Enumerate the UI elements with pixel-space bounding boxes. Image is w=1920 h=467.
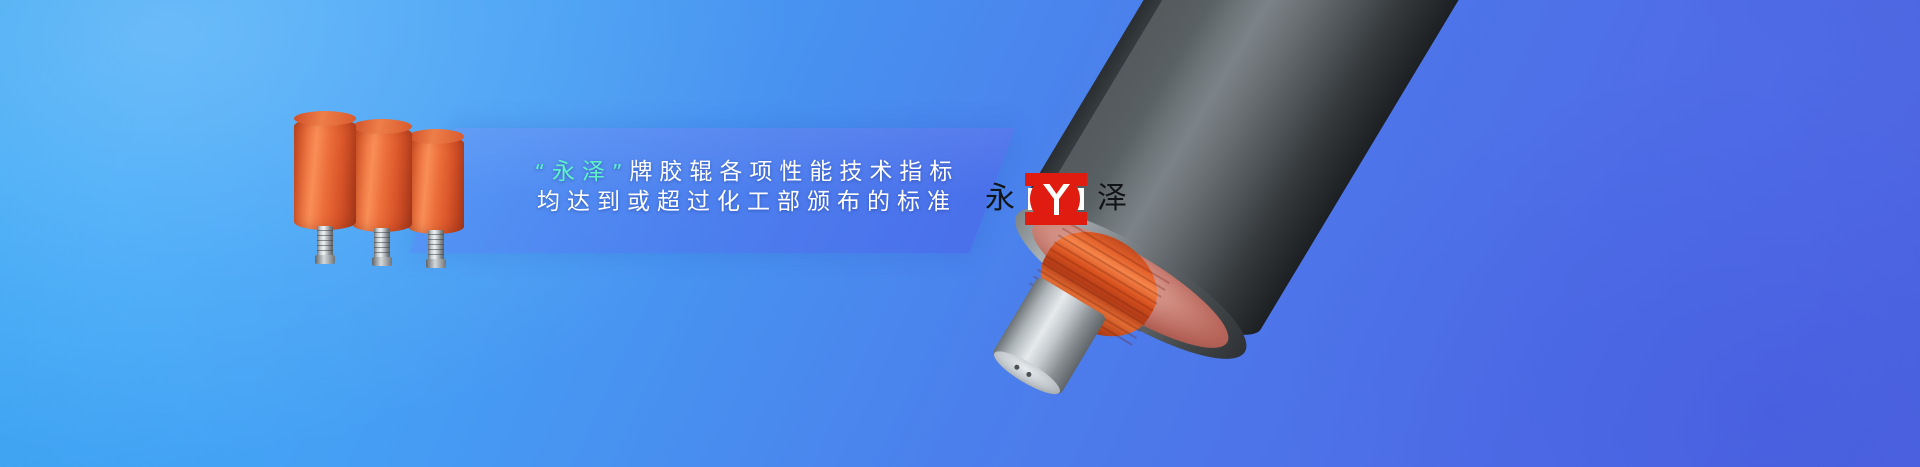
promo-banner: “永泽”牌胶辊各项性能技术指标 均达到或超过化工部颁布的标准 永 泽 (0, 0, 1920, 467)
orange-roller-cluster (290, 118, 520, 268)
orange-roller-1 (294, 118, 356, 230)
roller-shaft (428, 230, 444, 264)
quote-close: ” (612, 160, 629, 184)
shaft-tip (426, 259, 446, 268)
roller-end-cap (294, 111, 356, 126)
headline-block: “永泽”牌胶辊各项性能技术指标 均达到或超过化工部颁布的标准 (512, 158, 982, 218)
orange-roller-2 (352, 126, 412, 232)
logo-char-left: 永 (985, 184, 1015, 214)
roller-body (294, 118, 356, 230)
roller-body (352, 126, 412, 232)
shaft-tip (315, 255, 335, 264)
headline-line-1-rest: 牌胶辊各项性能技术指标 (629, 159, 959, 185)
logo-char-right: 泽 (1097, 184, 1127, 214)
roller-shaft (374, 228, 390, 262)
shaft-tip (372, 257, 392, 266)
quote-open: “ (535, 160, 552, 184)
large-industrial-roller (942, 0, 1503, 467)
roller-shaft (317, 226, 333, 260)
roller-end-cap (408, 129, 464, 144)
orange-roller-3 (408, 136, 464, 234)
headline-line-2: 均达到或超过化工部颁布的标准 (512, 188, 982, 218)
brand-logo: 永 泽 (985, 168, 1145, 230)
yongze-y-logo-icon (1019, 169, 1093, 229)
brand-name: 永泽 (552, 159, 612, 185)
roller-end-cap (352, 119, 412, 134)
roller-body (408, 136, 464, 234)
headline-line-1: “永泽”牌胶辊各项性能技术指标 (512, 158, 982, 188)
